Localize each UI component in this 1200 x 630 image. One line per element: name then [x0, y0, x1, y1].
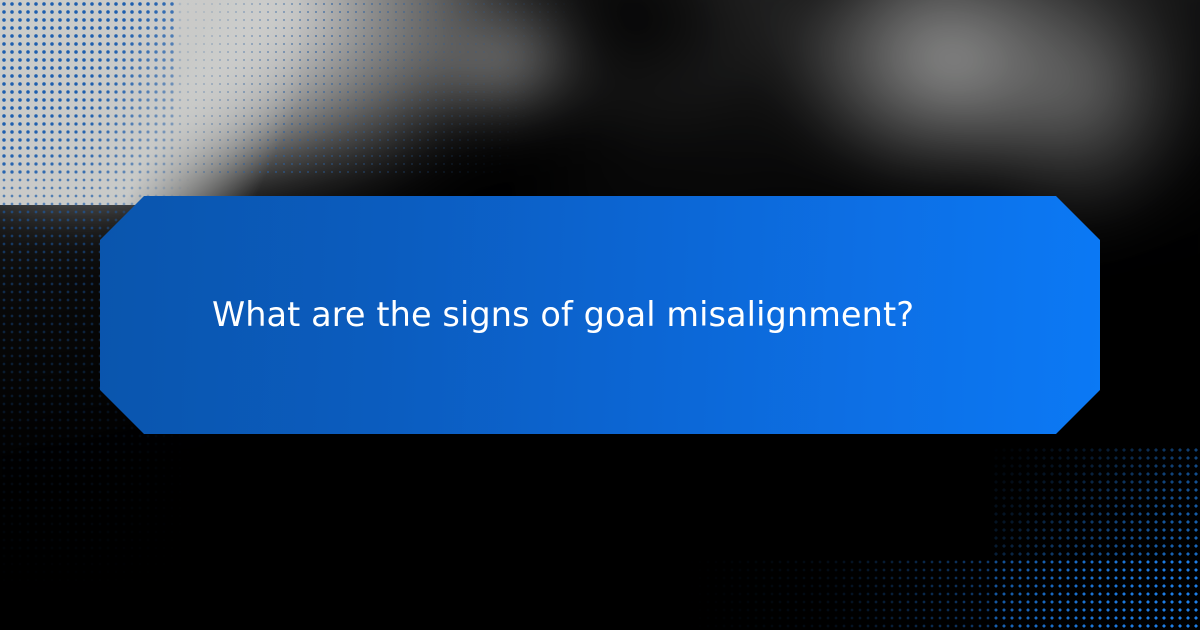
dot-grid-top-left-dense [0, 0, 176, 176]
headline-banner: What are the signs of goal misalignment? [100, 196, 1100, 434]
dot-grid-bottom-right [992, 446, 1200, 630]
banner-canvas: What are the signs of goal misalignment? [0, 0, 1200, 630]
banner-title: What are the signs of goal misalignment? [100, 294, 1004, 336]
